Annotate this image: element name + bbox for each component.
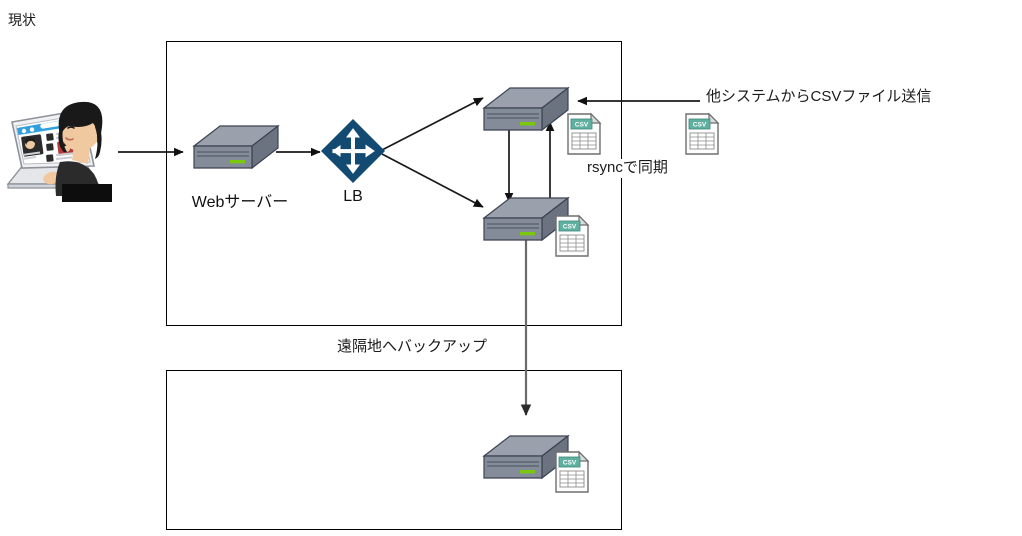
svg-text:CSV: CSV: [693, 122, 707, 129]
csv-file-icon: CSV: [554, 214, 590, 258]
annotation-external-csv-note: 他システムからCSVファイル送信: [706, 89, 931, 106]
server-led: [520, 122, 535, 125]
server-icon: [480, 80, 572, 140]
node-csv-file-server-2: CSV: [554, 214, 590, 258]
server-icon: [190, 118, 282, 178]
node-web-server: [190, 118, 282, 178]
node-csv-file-server-1: CSV: [566, 112, 602, 156]
annotation-rsync-note: rsyncで同期: [584, 159, 671, 178]
server-led: [520, 232, 535, 235]
svg-text:CSV: CSV: [563, 460, 577, 467]
csv-file-icon: CSV: [684, 112, 720, 156]
csv-file-icon: CSV: [554, 450, 590, 494]
server-led: [520, 470, 535, 473]
node-csv-file-external: CSV: [684, 112, 720, 156]
diagram-canvas: 現状: [0, 0, 1022, 536]
svg-text:CSV: CSV: [563, 224, 577, 231]
server-led: [230, 160, 245, 163]
node-label-web-server: Webサーバー: [185, 188, 295, 212]
edge-lb-to-app-server-1: [382, 98, 483, 150]
load-balancer-icon: [320, 118, 386, 184]
node-csv-file-backup: CSV: [554, 450, 590, 494]
annotation-remote-backup-note: 遠隔地へバックアップ: [334, 338, 490, 357]
node-label-load-balancer: LB: [325, 188, 381, 206]
csv-file-icon: CSV: [566, 112, 602, 156]
node-app-server-1: [480, 80, 572, 140]
user-laptop-illustration: [2, 92, 118, 204]
svg-text:CSV: CSV: [575, 122, 589, 129]
edge-lb-to-app-server-2: [382, 154, 483, 207]
user-illustration-svg: [2, 92, 118, 204]
node-load-balancer: [320, 118, 386, 184]
